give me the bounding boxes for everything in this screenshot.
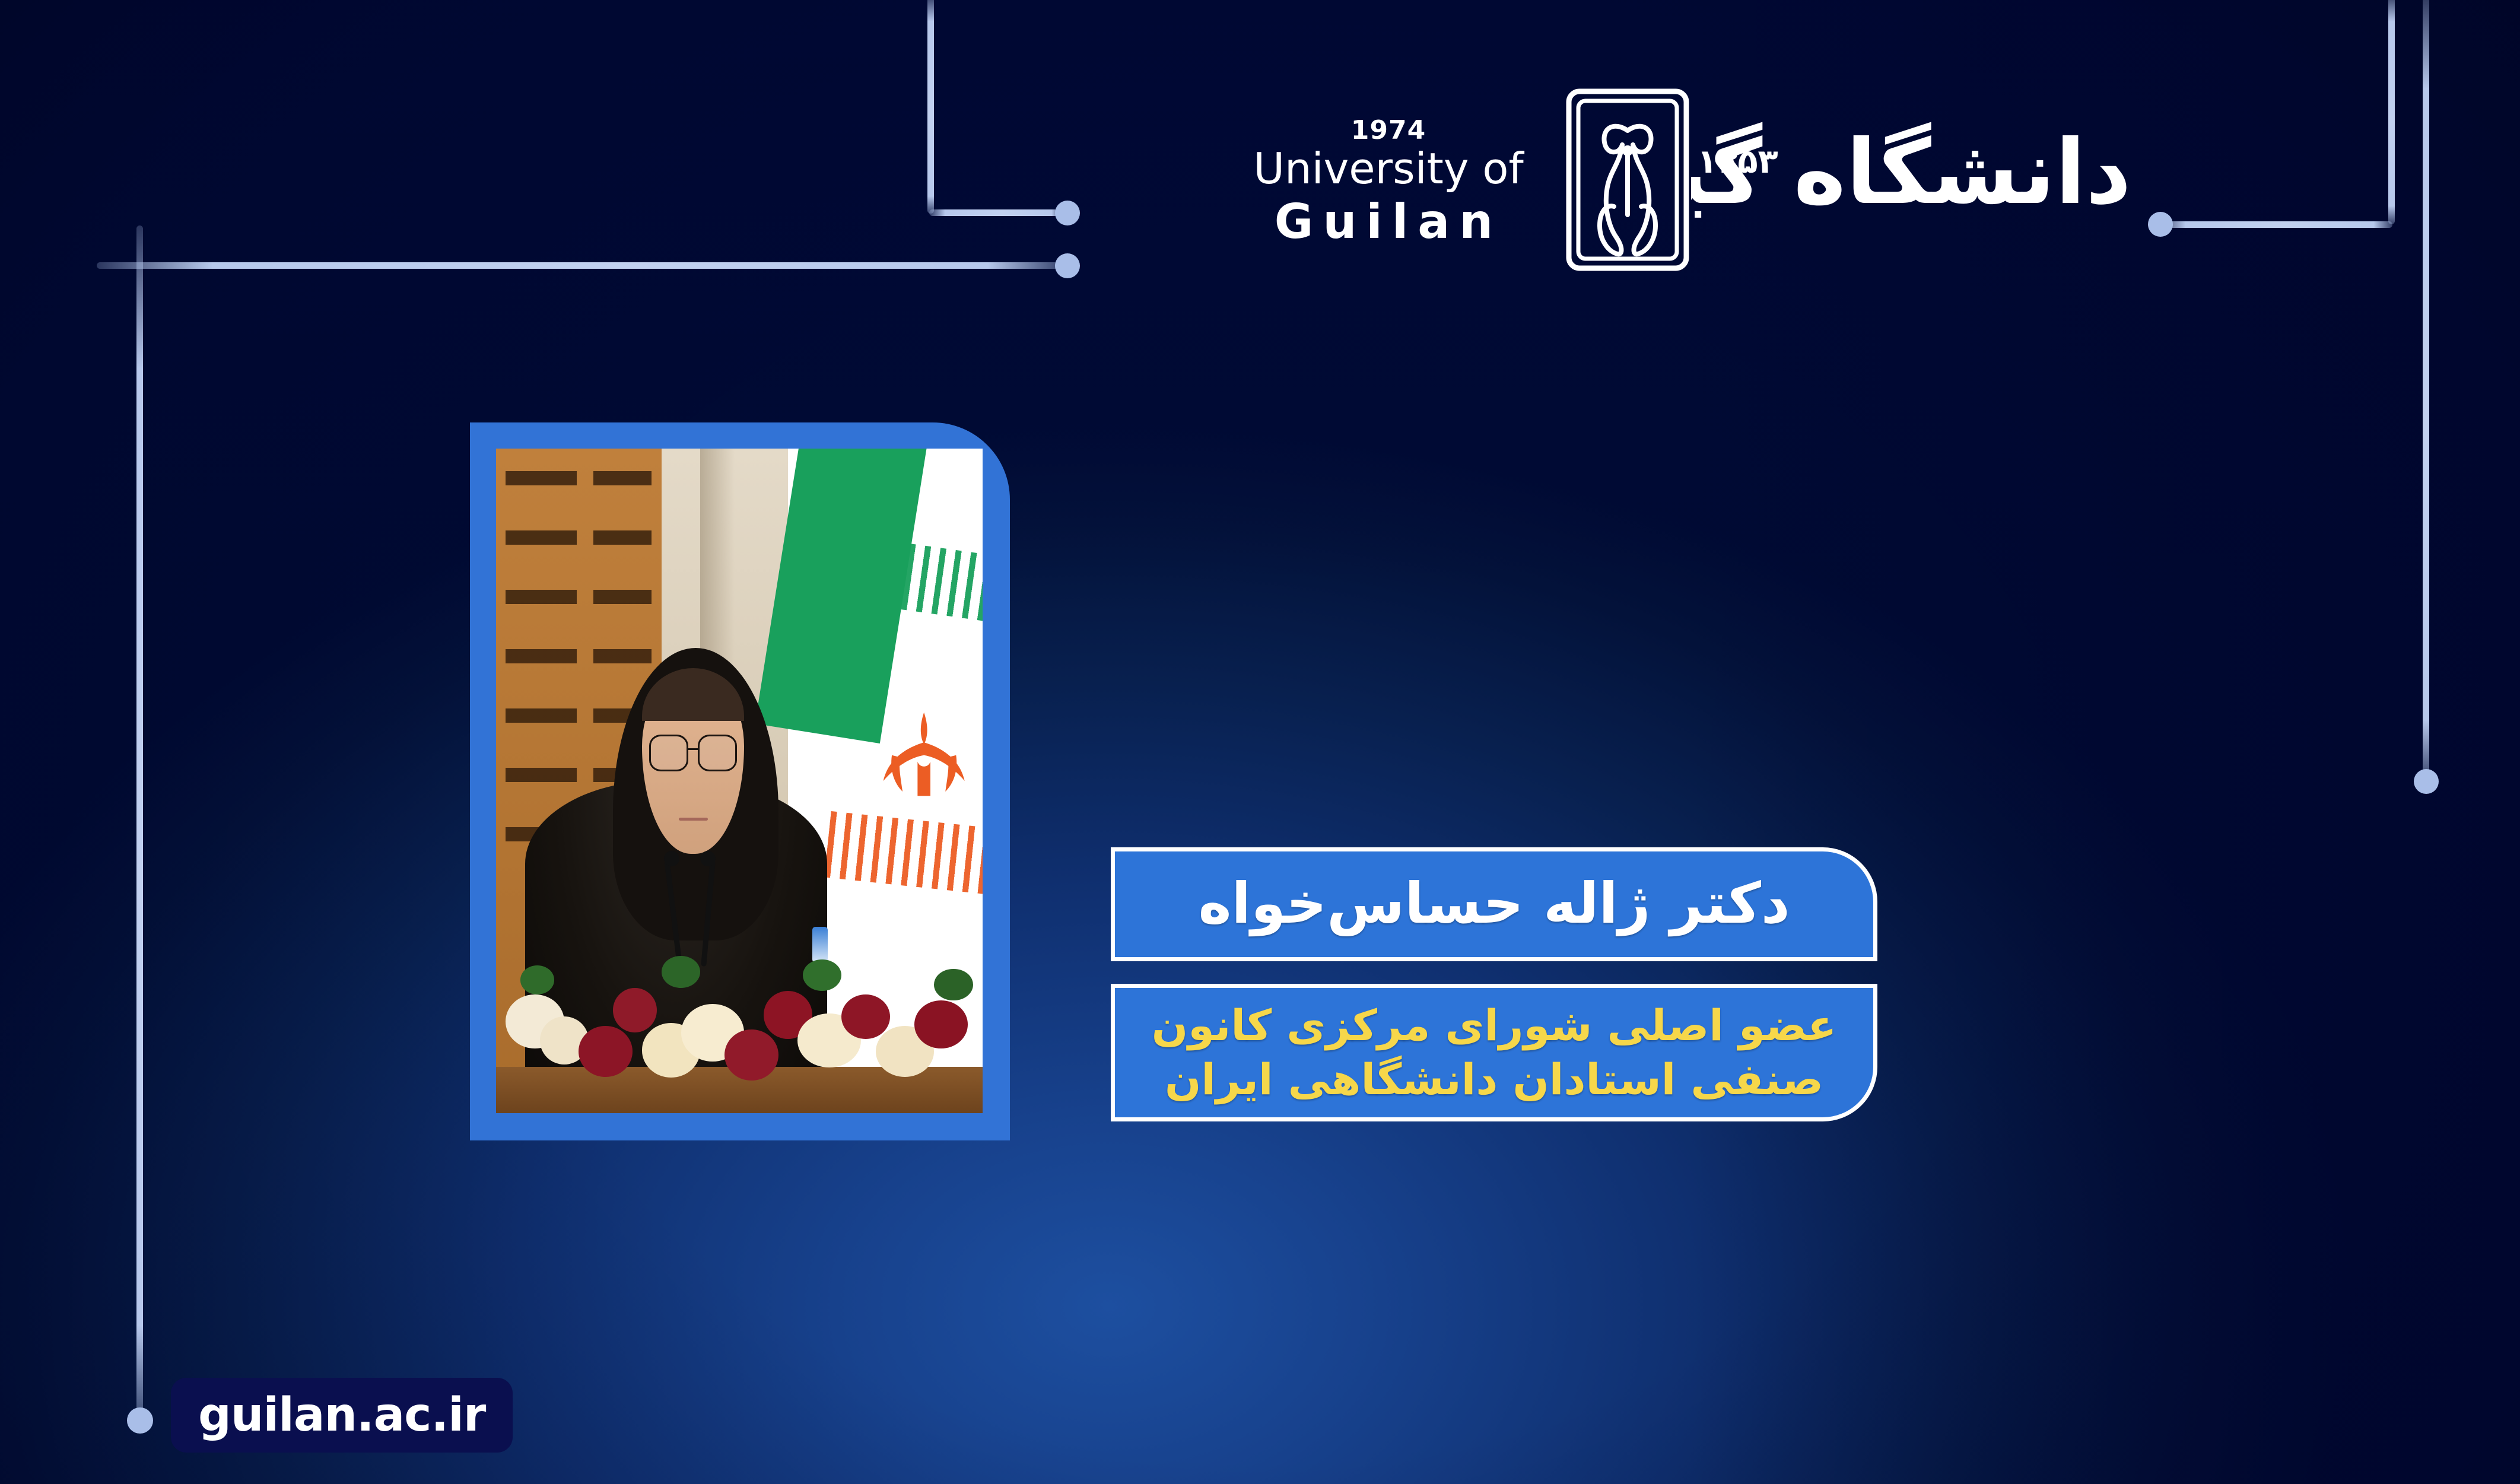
- deco-line-horizontal-upper-left: [929, 209, 1062, 216]
- speaker-role-text: عضو اصلی شورای مرکزی کانون صنفی استادان …: [1136, 999, 1852, 1106]
- poster-canvas: 1974 University of Guilan ۱۳۵۳ دانشگاه گ…: [0, 0, 2520, 1484]
- logo-persian-wordmark: دانشگاه گیلان: [1691, 77, 2142, 273]
- deco-line-vertical-upper-right: [2388, 0, 2395, 224]
- speaker-role-line-1: عضو اصلی شورای مرکزی کانون: [1152, 1000, 1837, 1050]
- speaker-name-text: دکتر ژاله حساس‌خواه: [1198, 875, 1790, 934]
- deco-dot-bottom-left: [127, 1407, 153, 1434]
- deco-dot-right: [2414, 769, 2439, 794]
- photo-microphone-head-left: [664, 851, 679, 866]
- deco-line-horizontal-upper-right: [2157, 221, 2392, 228]
- photo-flower-arrangement: [496, 934, 983, 1094]
- deco-line-vertical-right: [2423, 0, 2429, 783]
- university-logo: 1974 University of Guilan ۱۳۵۳ دانشگاه گ…: [1222, 83, 2148, 279]
- deco-dot-upper-right: [2148, 212, 2173, 237]
- logo-university-word: University of: [1222, 147, 1555, 190]
- logo-guilan-word: Guilan: [1222, 198, 1555, 246]
- photo-microphone-head-right: [700, 851, 716, 866]
- website-url-pill[interactable]: guilan.ac.ir: [171, 1378, 513, 1453]
- logo-year-latin: 1974: [1222, 117, 1555, 144]
- svg-text:دانشگاه گیلان: دانشگاه گیلان: [1691, 121, 2131, 224]
- deco-dot-horizontal-long-end: [1055, 253, 1080, 278]
- photo-person-glasses-bridge: [688, 748, 699, 750]
- website-url-text: guilan.ac.ir: [198, 1388, 485, 1442]
- speaker-role-line-2: صنفی استادان دانشگاهی ایران: [1165, 1054, 1823, 1104]
- deco-line-horizontal-long: [97, 262, 1065, 269]
- deco-line-vertical-upper-left: [927, 0, 934, 214]
- photo-person-mouth: [679, 818, 708, 821]
- iran-flag-emblem-icon: [870, 688, 977, 821]
- guilan-university-emblem-icon: [1565, 88, 1690, 272]
- speaker-role-badge: عضو اصلی شورای مرکزی کانون صنفی استادان …: [1111, 984, 1877, 1121]
- deco-line-vertical-left: [136, 225, 143, 1421]
- speaker-photo-card: [470, 422, 1010, 1140]
- speaker-photo: [496, 449, 983, 1113]
- deco-dot-upper-left: [1055, 201, 1080, 225]
- logo-english-text: 1974 University of Guilan: [1222, 117, 1555, 246]
- photo-person-glasses-right: [698, 735, 737, 772]
- speaker-name-badge: دکتر ژاله حساس‌خواه: [1111, 847, 1877, 961]
- photo-person-glasses-left: [649, 735, 688, 772]
